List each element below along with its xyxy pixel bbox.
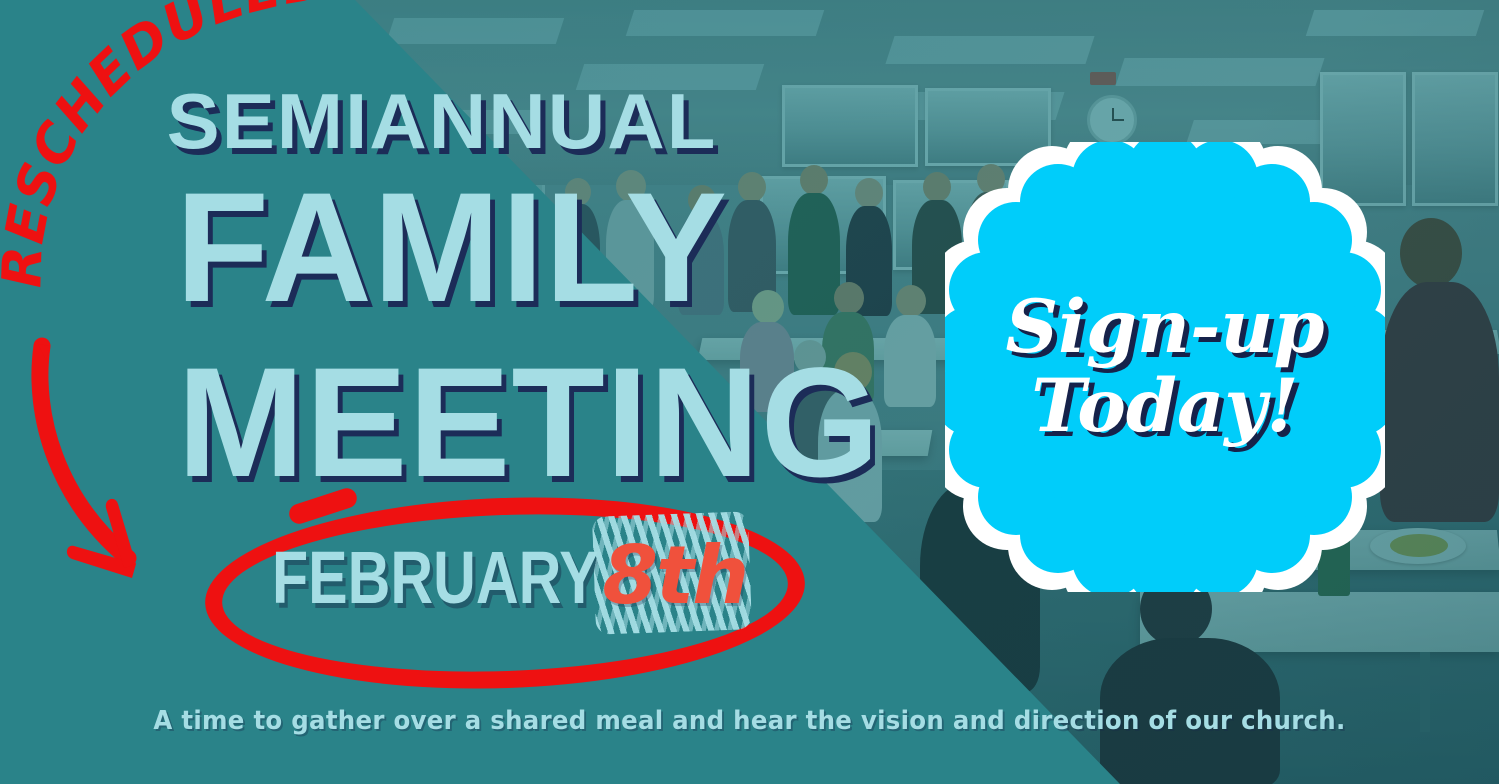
headline-line-3: MEETING (177, 345, 880, 501)
badge-line-1: Sign-up (1006, 289, 1325, 366)
badge-line-2: Today! (1031, 368, 1298, 445)
headline-line-2: FAMILY (176, 170, 728, 326)
subtitle: A time to gather over a shared meal and … (45, 706, 1454, 736)
signup-badge[interactable]: Sign-up Today! (945, 142, 1385, 592)
date-day: 8th (602, 529, 747, 622)
event-poster: RESCHEDULED! SEMIANNUAL FAMILY MEETING F… (0, 0, 1499, 784)
event-date: FEBRUARY 8th (272, 536, 747, 616)
headline-line-1: SEMIANNUAL (167, 82, 718, 160)
badge-text-block: Sign-up Today! (945, 142, 1385, 592)
date-month: FEBRUARY (272, 541, 599, 615)
date-day-wrapper: 8th (602, 536, 747, 616)
